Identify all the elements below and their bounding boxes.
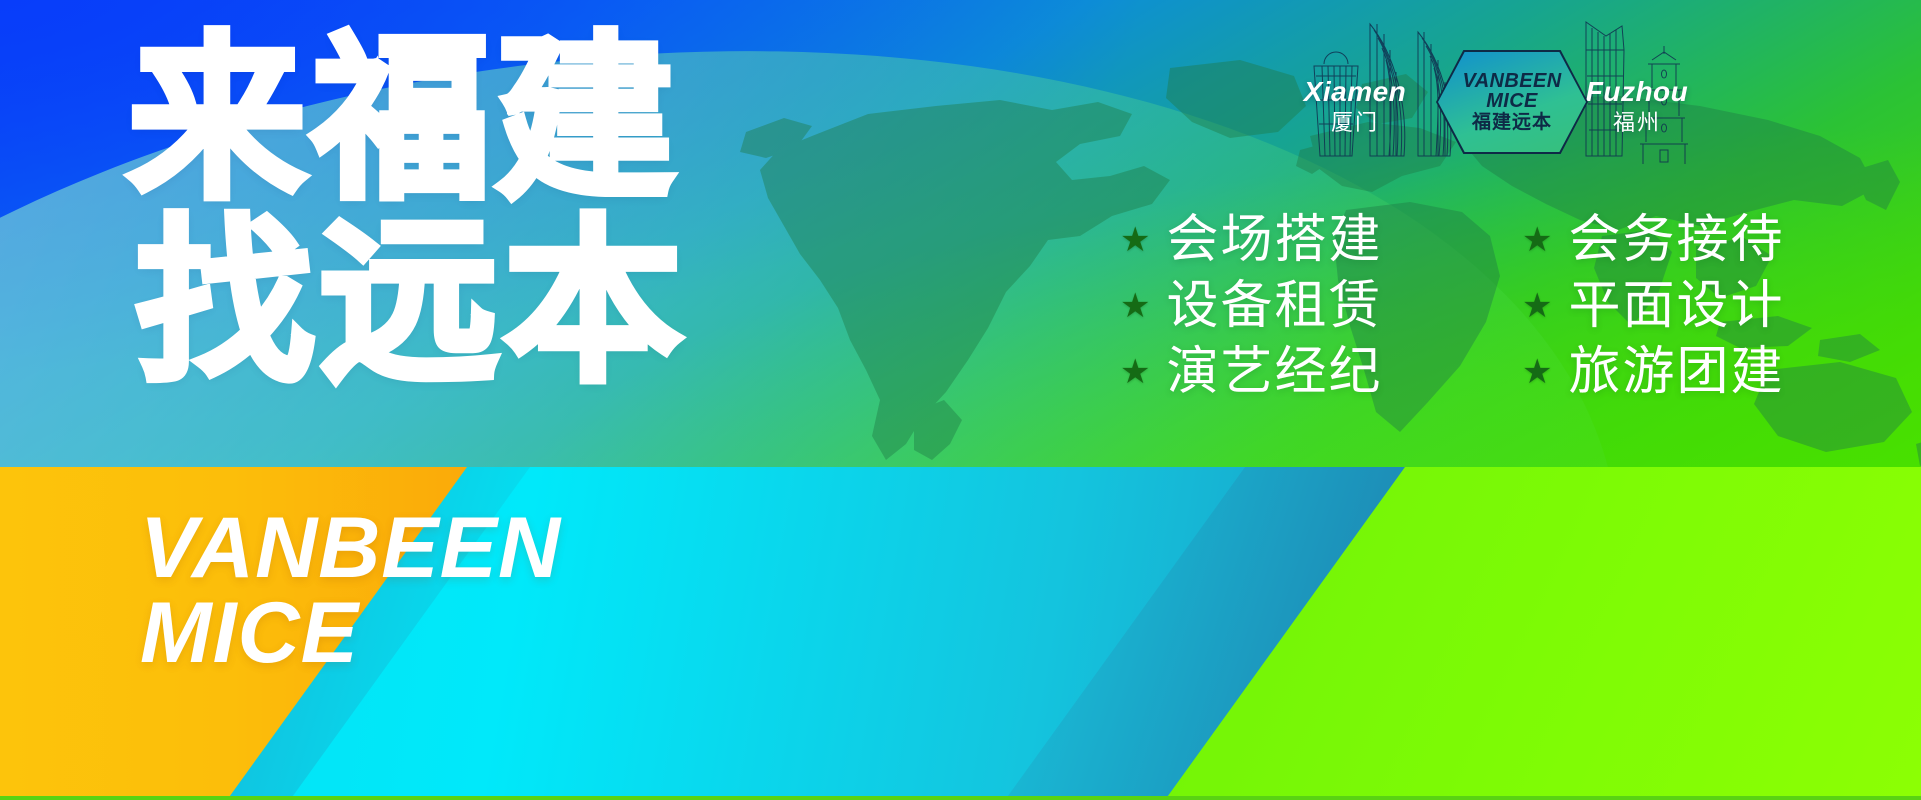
service-item: ★ 会场搭建 bbox=[1120, 212, 1508, 268]
bottom-accent-line bbox=[0, 796, 1921, 800]
service-item: ★ 演艺经纪 bbox=[1120, 344, 1508, 400]
headline-line-2: 找远本 bbox=[136, 219, 688, 386]
star-icon: ★ bbox=[1522, 289, 1552, 323]
service-label: 设备租赁 bbox=[1166, 278, 1382, 334]
city-name-cn-xiamen: 厦门 bbox=[1280, 109, 1430, 137]
banner-main-area: 来福建 找远本 bbox=[0, 0, 1921, 467]
hexagon-line-1: VANBEEN bbox=[1462, 71, 1561, 91]
star-icon: ★ bbox=[1522, 355, 1552, 389]
star-icon: ★ bbox=[1120, 289, 1150, 323]
hexagon-logo-text: VANBEEN MICE 福建远本 bbox=[1462, 71, 1561, 132]
star-icon: ★ bbox=[1522, 223, 1552, 257]
hexagon-line-3: 福建远本 bbox=[1462, 113, 1561, 132]
brand-wordmark: VANBEEN MICE bbox=[140, 509, 561, 673]
service-label: 演艺经纪 bbox=[1166, 344, 1382, 400]
banner-bottom-bar: VANBEEN MICE bbox=[0, 467, 1921, 800]
services-list: ★ 会场搭建 ★ 会务接待 ★ 设备租赁 ★ 平面设计 ★ 演艺经纪 ★ 旅游团… bbox=[1120, 212, 1910, 400]
hexagon-line-2: MICE bbox=[1462, 91, 1561, 111]
headline-line-1: 来福建 bbox=[128, 36, 688, 203]
service-label: 旅游团建 bbox=[1568, 344, 1784, 400]
city-label-xiamen: Xiamen 厦门 bbox=[1280, 78, 1430, 137]
service-label: 会场搭建 bbox=[1166, 212, 1382, 268]
service-item: ★ 平面设计 bbox=[1522, 278, 1910, 334]
service-item: ★ 旅游团建 bbox=[1522, 344, 1910, 400]
star-icon: ★ bbox=[1120, 223, 1150, 257]
star-icon: ★ bbox=[1120, 355, 1150, 389]
brand-line-2: MICE bbox=[140, 594, 561, 673]
service-item: ★ 设备租赁 bbox=[1120, 278, 1508, 334]
brand-line-1: VANBEEN bbox=[140, 509, 561, 588]
headline-text: 来福建 找远本 bbox=[128, 36, 688, 387]
service-label: 会务接待 bbox=[1568, 212, 1784, 268]
city-landmark-strip: Xiamen 厦门 Fuzhou 福州 VANBEEN MICE 福建远本 bbox=[1300, 4, 1720, 174]
service-item: ★ 会务接待 bbox=[1522, 212, 1910, 268]
service-label: 平面设计 bbox=[1568, 278, 1784, 334]
vanbeen-hexagon-logo: VANBEEN MICE 福建远本 bbox=[1436, 50, 1588, 154]
city-name-en-xiamen: Xiamen bbox=[1280, 78, 1430, 106]
promotional-banner: 来福建 找远本 bbox=[0, 0, 1921, 800]
